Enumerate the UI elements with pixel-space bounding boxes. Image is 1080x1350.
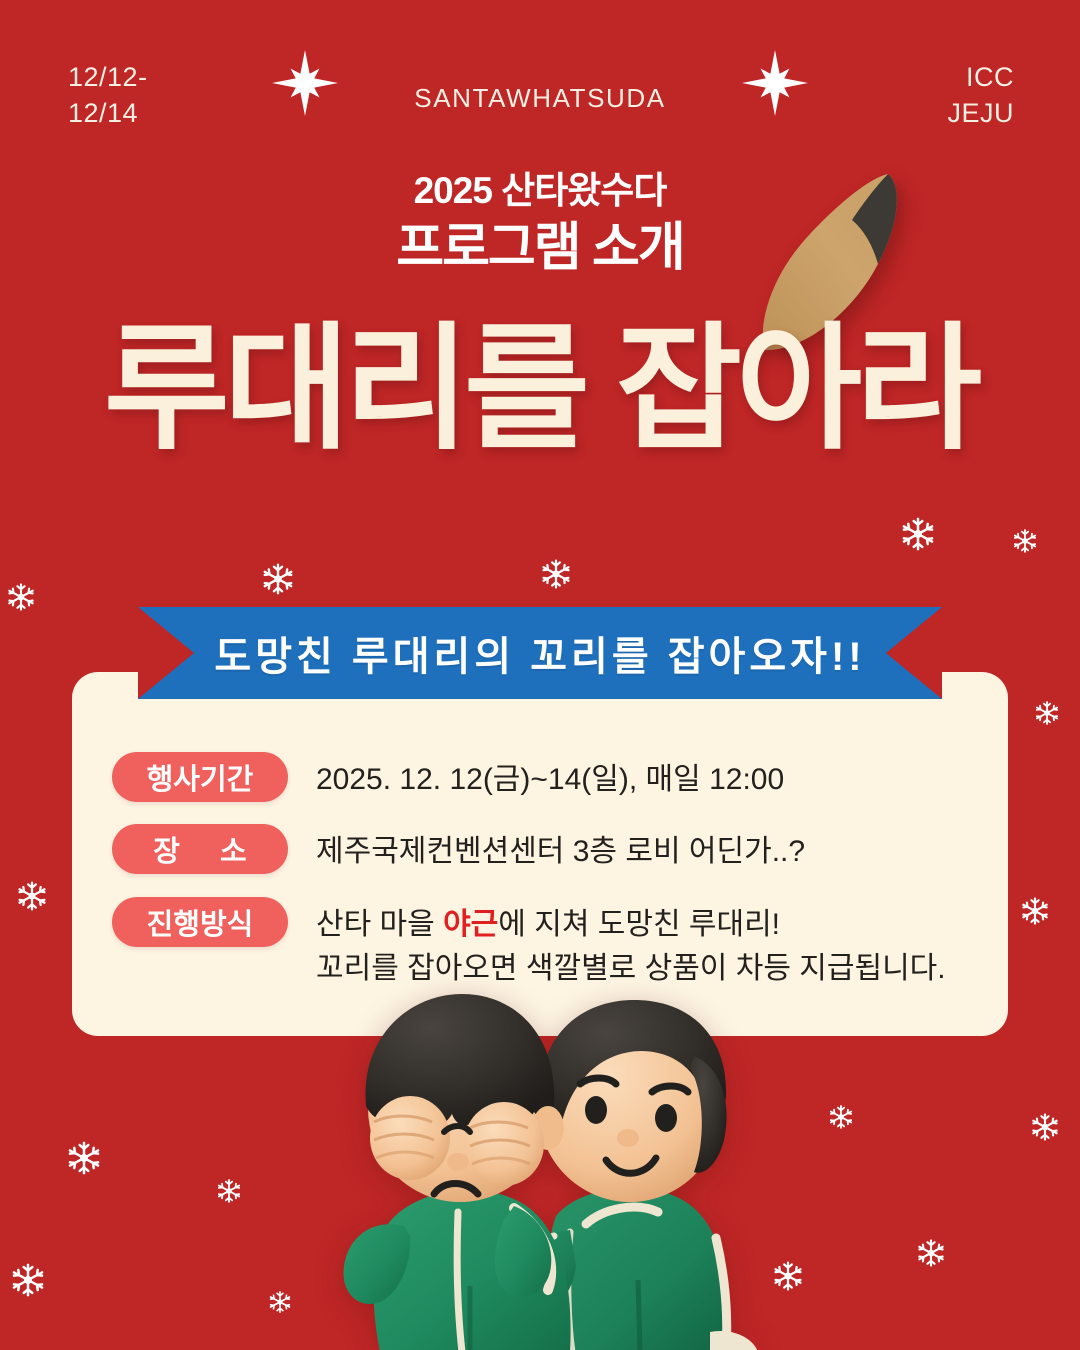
snowflake-icon xyxy=(16,880,48,916)
two-claymation-characters-illustration xyxy=(318,980,788,1350)
snowflake-icon xyxy=(916,1238,946,1272)
venue-line-2: JEJU xyxy=(947,96,1014,132)
snowflake-icon xyxy=(1030,1112,1060,1146)
info-label-method: 진행방식 xyxy=(112,897,288,947)
info-value-method: 산타 마을 야근에 지쳐 도망친 루대리! 꼬리를 잡아오면 색깔별로 상품이 … xyxy=(316,897,946,992)
poster-header: 12/12- 12/14 SANTAWHATSUDA ICC JEJU xyxy=(0,0,1080,160)
character-left xyxy=(343,994,570,1350)
method-line1-pre: 산타 마을 xyxy=(316,908,443,941)
snowflake-icon xyxy=(828,1104,854,1134)
snowflake-icon xyxy=(66,1140,102,1180)
snowflake-icon xyxy=(1020,896,1050,930)
snowflake-icon xyxy=(1034,700,1060,730)
snowflake-icon xyxy=(6,582,36,616)
venue-line-1: ICC xyxy=(947,60,1014,96)
snowflake-icon xyxy=(540,558,572,594)
info-label-place: 장 소 xyxy=(112,824,288,874)
ribbon-banner-text: 도망친 루대리의 꼬리를 잡아오자!! xyxy=(138,607,942,699)
poster-canvas: 12/12- 12/14 SANTAWHATSUDA ICC JEJU 2025… xyxy=(0,0,1080,1350)
snowflake-icon xyxy=(216,1178,242,1208)
info-row-period: 행사기간 2025. 12. 12(금)~14(일), 매일 12:00 xyxy=(112,752,992,802)
info-row-method: 진행방식 산타 마을 야근에 지쳐 도망친 루대리! 꼬리를 잡아오면 색깔별로… xyxy=(112,897,992,992)
snowflake-icon xyxy=(268,1290,292,1318)
main-title: 루대리를 잡아라 xyxy=(0,318,1080,462)
brand-name: SANTAWHATSUDA xyxy=(0,83,1080,114)
info-value-place: 제주국제컨벤션센터 3층 로비 어딘가..? xyxy=(316,824,805,874)
method-line1-highlight: 야근 xyxy=(443,908,498,941)
info-row-place: 장 소 제주국제컨벤션센터 3층 로비 어딘가..? xyxy=(112,824,992,874)
snowflake-icon xyxy=(900,516,936,556)
info-rows: 행사기간 2025. 12. 12(금)~14(일), 매일 12:00 장 소… xyxy=(112,752,992,992)
venue-name: ICC JEJU xyxy=(947,60,1014,131)
title-subtitle: 프로그램 소개 xyxy=(0,205,1080,280)
method-line1-post: 에 지쳐 도망친 루대리! xyxy=(498,908,780,941)
info-value-period: 2025. 12. 12(금)~14(일), 매일 12:00 xyxy=(316,752,784,802)
snowflake-icon xyxy=(261,562,295,600)
info-label-period: 행사기간 xyxy=(112,752,288,802)
snowflake-icon xyxy=(1012,528,1038,558)
snowflake-icon xyxy=(10,1262,46,1302)
